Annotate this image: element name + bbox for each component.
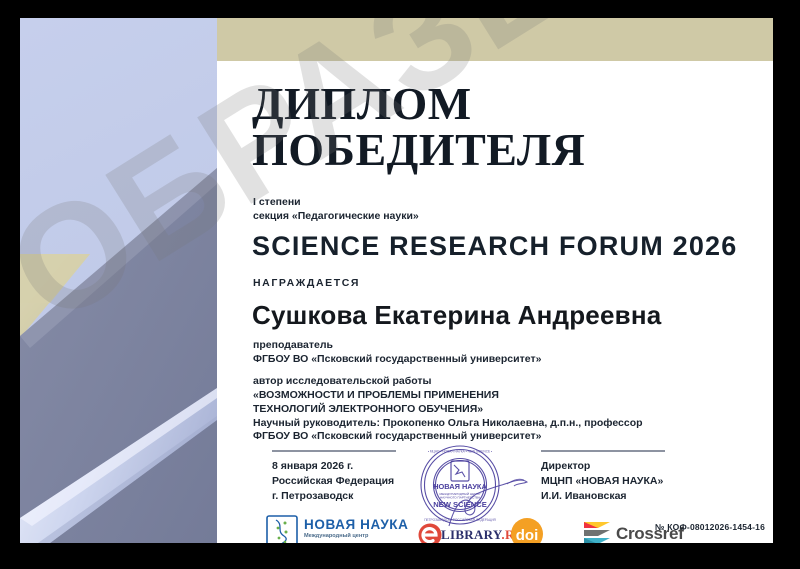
novaya-nauka-logo: НОВАЯ НАУКА Международный центр научного…: [266, 515, 436, 543]
screenshot-canvas: ДИПЛОМ ПОБЕДИТЕЛЯ I степени секция «Педа…: [0, 0, 800, 569]
left-decorative-panel: [20, 18, 217, 543]
director-name: И.И. Ивановская: [541, 489, 663, 504]
document-number: № КОФ-08012026-1454-16: [655, 522, 765, 532]
recipient-position: преподаватель: [253, 339, 541, 353]
svg-text:НОВАЯ НАУКА: НОВАЯ НАУКА: [433, 482, 487, 491]
doi-wordmark: doi: [516, 527, 539, 543]
director-title: Директор: [541, 459, 663, 474]
director-organization: МЦНП «НОВАЯ НАУКА»: [541, 474, 663, 489]
svg-text:NEW SCIENCE: NEW SCIENCE: [433, 500, 487, 509]
place-and-date-block: 8 января 2026 г. Российская Федерация г.…: [272, 459, 394, 505]
recipient-name: Сушкова Екатерина Андреевна: [252, 300, 661, 331]
recipient-organization: ФГБОУ ВО «Псковский государственный унив…: [253, 353, 541, 367]
section-text: секция «Педагогические науки»: [253, 210, 419, 224]
issue-city: г. Петрозаводск: [272, 489, 394, 504]
certificate-content: ДИПЛОМ ПОБЕДИТЕЛЯ I степени секция «Педа…: [252, 18, 773, 543]
director-block: Директор МЦНП «НОВАЯ НАУКА» И.И. Ивановс…: [541, 459, 663, 505]
awarded-label: НАГРАЖДАЕТСЯ: [253, 277, 360, 289]
novaya-nauka-title: НОВАЯ НАУКА: [304, 517, 409, 532]
work-role: автор исследовательской работы: [253, 375, 643, 389]
page-title-line1: ДИПЛОМ: [252, 82, 472, 127]
elibrary-name: LIBRARY: [441, 527, 501, 542]
signature-rule-right: [541, 450, 665, 452]
degree-block: I степени секция «Педагогические науки»: [253, 196, 419, 224]
diploma-page: ДИПЛОМ ПОБЕДИТЕЛЯ I степени секция «Педа…: [20, 18, 773, 543]
issue-date: 8 января 2026 г.: [272, 459, 394, 474]
forum-title: SCIENCE RESEARCH FORUM 2026: [252, 231, 738, 262]
supervisor-organization: ФГБОУ ВО «Псковский государственный унив…: [253, 430, 643, 444]
novaya-nauka-lockup: НОВАЯ НАУКА Международный центр научного…: [304, 517, 409, 543]
page-title-line2: ПОБЕДИТЕЛЯ: [252, 128, 585, 173]
supervisor: Научный руководитель: Прокопенко Ольга Н…: [253, 417, 643, 431]
doi-logo: doi: [511, 515, 571, 543]
work-block: автор исследовательской работы «ВОЗМОЖНО…: [253, 375, 643, 444]
novaya-nauka-subtitle-1: Международный центр: [304, 533, 409, 541]
degree-text: I степени: [253, 196, 419, 210]
svg-text:• МЦНП • НОВАЯ НАУКА • NEW SCI: • МЦНП • НОВАЯ НАУКА • NEW SCIENCE •: [428, 450, 492, 454]
issue-country: Российская Федерация: [272, 474, 394, 489]
official-stamp: НОВАЯ НАУКА МЕЖДУНАРОДНЫЙ ЦЕНТР НАУЧНОГО…: [419, 444, 501, 526]
svg-text:НАУЧНОГО ПАРТНЕРСТВА: НАУЧНОГО ПАРТНЕРСТВА: [440, 496, 481, 500]
affiliation-block: преподаватель ФГБОУ ВО «Псковский госуда…: [253, 339, 541, 367]
work-title-line1: «ВОЗМОЖНОСТИ И ПРОБЛЕМЫ ПРИМЕНЕНИЯ: [253, 389, 643, 403]
signature-rule-left: [272, 450, 396, 452]
novaya-nauka-subtitle-2: научного партнерства: [304, 542, 409, 543]
work-title-line2: ТЕХНОЛОГИЙ ЭЛЕКТРОННОГО ОБУЧЕНИЯ»: [253, 403, 643, 417]
